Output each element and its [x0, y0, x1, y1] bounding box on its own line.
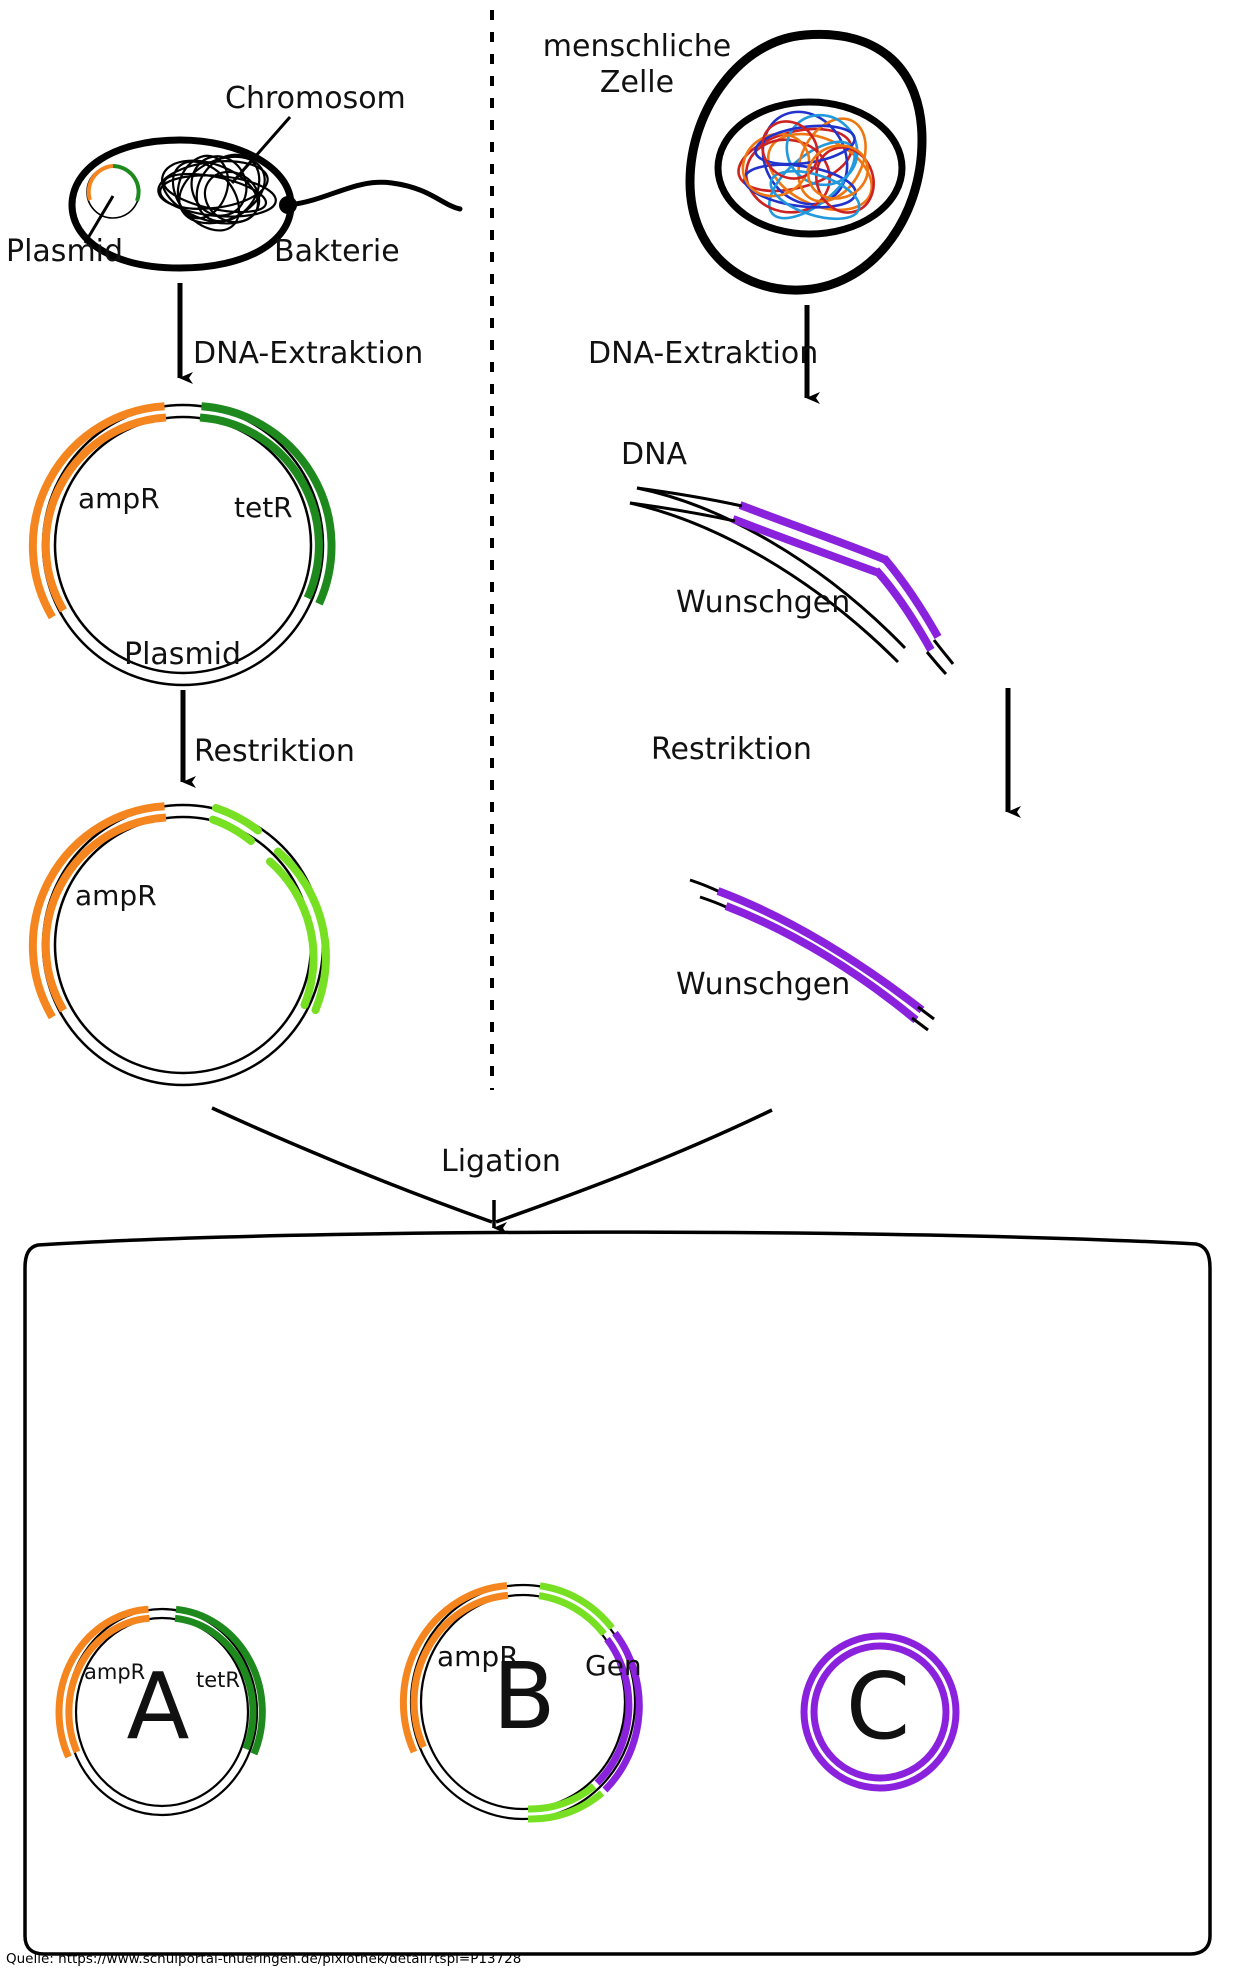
plasmid-in-cell-label: Plasmid — [6, 235, 123, 269]
diagram-canvas: Chromosom Plasmid Bakterie DNA-Extraktio… — [0, 0, 1235, 1983]
chromosome-label: Chromosom — [225, 82, 406, 116]
human-cell-label-line2: Zelle — [600, 66, 674, 100]
result-b-letter: B — [492, 1645, 555, 1748]
result-b-gen-label: Gen — [585, 1650, 642, 1681]
cut-wunschgen-label: Wunschgen — [676, 968, 850, 1002]
wunschgen-label: Wunschgen — [676, 586, 850, 620]
dna-label: DNA — [621, 438, 687, 472]
dna-strand-uncut — [630, 488, 953, 674]
left-extraction-step-label: DNA-Extraktion — [193, 337, 423, 371]
source-citation: Quelle: https://www.schulportal-thuering… — [6, 1951, 521, 1967]
plasmid-ampR-label: ampR — [78, 483, 160, 514]
bacterium-label: Bakterie — [274, 235, 400, 269]
right-extraction-step-label: DNA-Extraktion — [588, 337, 818, 371]
human-cell-illustration — [690, 34, 922, 290]
plasmid-cut — [33, 805, 326, 1085]
result-a-letter: A — [127, 1655, 190, 1758]
right-restriction-step-label: Restriktion — [651, 733, 812, 767]
human-cell-label-line1: menschliche — [543, 30, 731, 64]
cut-plasmid-ampR-label: ampR — [75, 880, 157, 911]
plasmid-name-label: Plasmid — [124, 638, 241, 672]
dna-fragment-cut — [690, 880, 934, 1030]
result-a-tetR-label: tetR — [196, 1669, 240, 1693]
plasmid-tetR-label: tetR — [234, 492, 293, 523]
results-container-outline — [25, 1232, 1210, 1954]
result-c-letter: C — [846, 1655, 910, 1758]
ligation-label: Ligation — [441, 1145, 561, 1179]
left-restriction-step-label: Restriktion — [194, 735, 355, 769]
bacterium-illustration — [72, 117, 460, 268]
plasmid-in-cell — [87, 166, 139, 218]
